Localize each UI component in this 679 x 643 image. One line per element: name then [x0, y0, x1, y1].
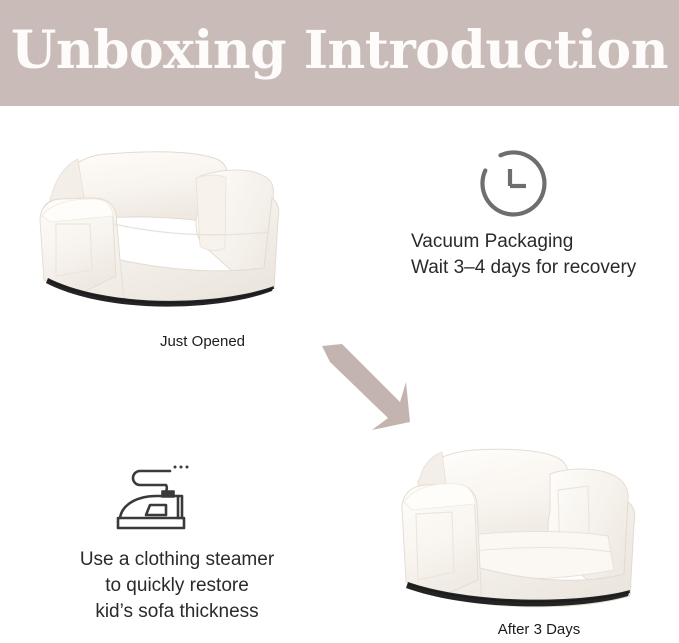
page-title: Unboxing Introduction [0, 0, 679, 106]
clock-icon [477, 147, 551, 221]
steamer-line-2: to quickly restore [62, 573, 292, 599]
down-right-arrow-icon [312, 344, 412, 434]
vacuum-line-1: Vacuum Packaging [411, 229, 636, 255]
header-band: Unboxing Introduction [0, 0, 679, 106]
steamer-line-1: Use a clothing steamer [62, 547, 292, 573]
vacuum-line-2: Wait 3–4 days for recovery [411, 255, 636, 281]
clothing-iron-icon [112, 458, 208, 534]
steamer-line-3: kid’s sofa thickness [62, 599, 292, 625]
steamer-instruction-text: Use a clothing steamer to quickly restor… [62, 547, 292, 626]
recovered-sofa-illustration [392, 432, 642, 622]
compressed-sofa-illustration [28, 128, 308, 318]
caption-just-opened: Just Opened [125, 332, 280, 351]
vacuum-packaging-text: Vacuum Packaging Wait 3–4 days for recov… [411, 229, 636, 281]
caption-after-3-days: After 3 Days [424, 620, 654, 639]
